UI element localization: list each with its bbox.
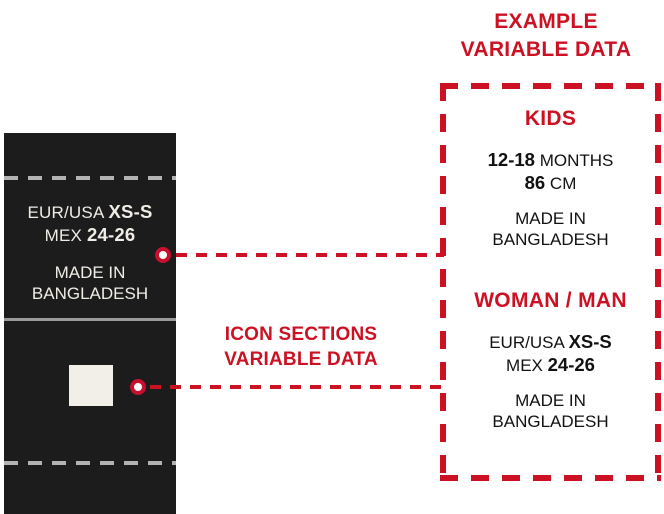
label-size-mex-prefix: MEX xyxy=(45,226,82,245)
group-adult-eur-usa-value: XS-S xyxy=(569,331,612,352)
group-sizes-kids: 12-18 MONTHS 86 CM xyxy=(440,149,661,195)
group-kids-size-line1: 12-18 MONTHS xyxy=(440,149,661,172)
leader-line-icon-section xyxy=(150,385,446,389)
connector-dot-size-section xyxy=(156,248,170,262)
label-origin-line2: BANGLADESH xyxy=(4,284,176,305)
example-variable-data-box: KIDS 12-18 MONTHS 86 CM MADE IN BANGLADE… xyxy=(440,83,661,481)
group-adult-eur-usa-prefix: EUR/USA xyxy=(489,333,564,352)
leader-line-size-section xyxy=(176,253,444,257)
group-adult-mex-prefix: MEX xyxy=(506,356,543,375)
dashed-border-bottom xyxy=(440,475,661,481)
group-adult-origin-line1: MADE IN xyxy=(440,390,661,411)
label-size-line-mex: MEX 24-26 xyxy=(4,224,176,247)
label-size-eur-usa-value: XS-S xyxy=(109,201,153,222)
label-size-eur-usa-prefix: EUR/USA xyxy=(28,203,104,222)
group-heading-woman-man: WOMAN / MAN xyxy=(440,289,661,313)
annotation-icon-sections-line1: ICON SECTIONS xyxy=(198,322,404,347)
group-adult-size-line2: MEX 24-26 xyxy=(440,354,661,377)
group-kids-origin-line2: BANGLADESH xyxy=(440,229,661,250)
connector-dot-icon-section xyxy=(131,380,145,394)
label-section-divider xyxy=(4,318,176,321)
group-sizes-woman-man: EUR/USA XS-S MEX 24-26 xyxy=(440,331,661,377)
group-kids-height-value: 86 xyxy=(525,172,546,193)
label-origin-line1: MADE IN xyxy=(4,263,176,284)
group-kids-age-value: 12-18 xyxy=(488,149,535,170)
group-origin-kids: MADE IN BANGLADESH xyxy=(440,208,661,250)
group-kids-size-line2: 86 CM xyxy=(440,172,661,195)
label-perforation-bottom xyxy=(4,461,176,465)
garment-label-card: EUR/USA XS-S MEX 24-26 MADE IN BANGLADES… xyxy=(4,133,176,514)
annotation-icon-sections: ICON SECTIONS VARIABLE DATA xyxy=(198,322,404,372)
variable-data-group-kids: KIDS 12-18 MONTHS 86 CM MADE IN BANGLADE… xyxy=(440,107,661,250)
label-origin-block: MADE IN BANGLADESH xyxy=(4,263,176,304)
care-symbol-square-icon xyxy=(69,365,113,406)
group-kids-origin-line1: MADE IN xyxy=(440,208,661,229)
group-kids-age-unit: MONTHS xyxy=(540,151,614,170)
variable-data-group-woman-man: WOMAN / MAN EUR/USA XS-S MEX 24-26 MADE … xyxy=(440,289,661,432)
annotation-icon-sections-line2: VARIABLE DATA xyxy=(198,347,404,372)
label-size-block: EUR/USA XS-S MEX 24-26 xyxy=(4,201,176,246)
dashed-border-top xyxy=(440,83,661,89)
group-adult-origin-line2: BANGLADESH xyxy=(440,411,661,432)
group-kids-height-unit: CM xyxy=(550,174,576,193)
group-origin-woman-man: MADE IN BANGLADESH xyxy=(440,390,661,432)
panel-title-line2: VARIABLE DATA xyxy=(428,36,664,64)
panel-title: EXAMPLE VARIABLE DATA xyxy=(428,8,664,63)
label-size-line-eur-usa: EUR/USA XS-S xyxy=(4,201,176,224)
label-size-mex-value: 24-26 xyxy=(87,224,135,245)
group-adult-mex-value: 24-26 xyxy=(548,354,595,375)
group-heading-kids: KIDS xyxy=(440,107,661,131)
diagram-canvas: EUR/USA XS-S MEX 24-26 MADE IN BANGLADES… xyxy=(0,0,664,514)
group-adult-size-line1: EUR/USA XS-S xyxy=(440,331,661,354)
panel-title-line1: EXAMPLE xyxy=(428,8,664,36)
label-perforation-top xyxy=(4,176,176,180)
